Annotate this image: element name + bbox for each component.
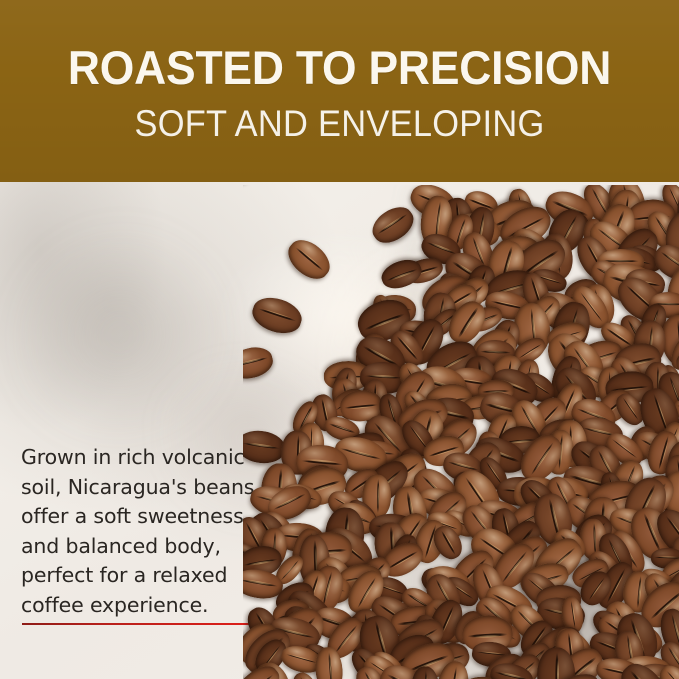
product-infographic-card: ROASTED TO PRECISION SOFT AND ENVELOPING… (0, 0, 679, 679)
page-title: ROASTED TO PRECISION (19, 41, 661, 95)
coffee-beans-cluster (243, 185, 679, 679)
header-banner: ROASTED TO PRECISION SOFT AND ENVELOPING (0, 0, 679, 182)
coffee-bean (281, 232, 336, 285)
coffee-bean (366, 200, 419, 249)
coffee-beans-image (243, 185, 679, 679)
coffee-bean (243, 343, 276, 383)
coffee-bean (248, 292, 306, 339)
page-subtitle: SOFT AND ENVELOPING (24, 103, 655, 145)
